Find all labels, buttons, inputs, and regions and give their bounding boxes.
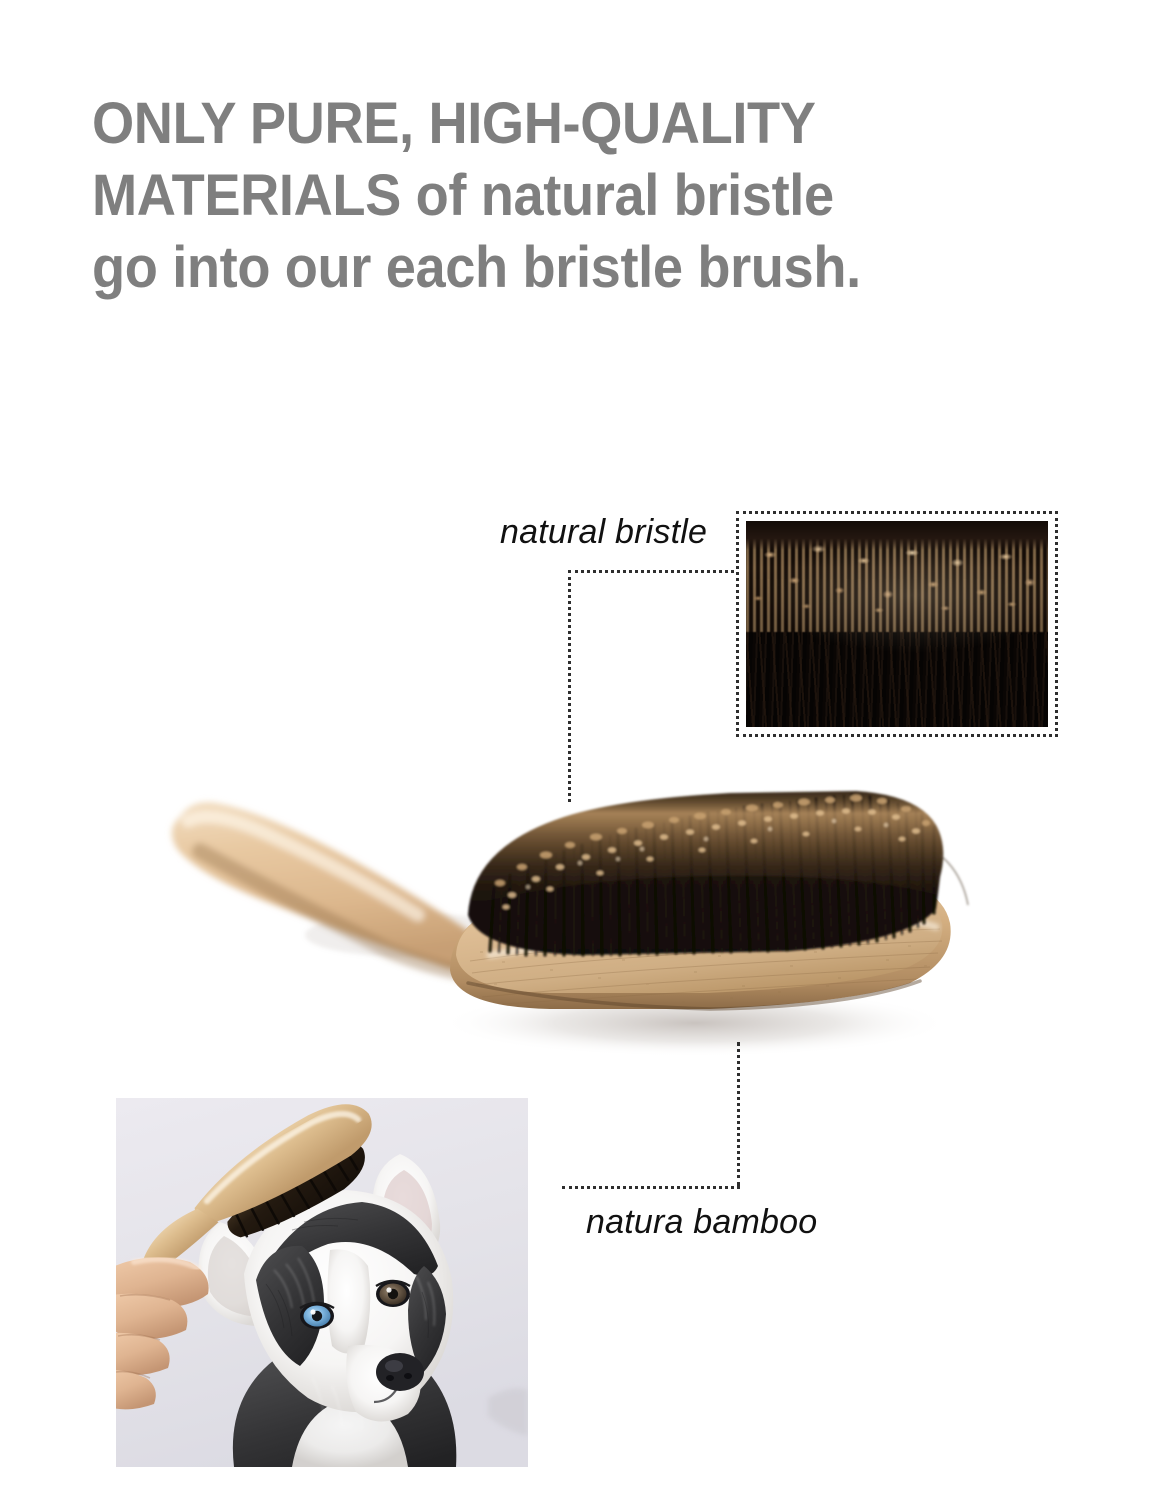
husky-nose bbox=[376, 1353, 424, 1391]
bristle-highlight bbox=[746, 521, 1048, 727]
callout-label-natura-bamboo: natura bamboo bbox=[586, 1202, 817, 1242]
husky-eye-right bbox=[376, 1281, 410, 1307]
husky-illustration bbox=[116, 1098, 528, 1467]
bristle-closeup-inset bbox=[736, 511, 1058, 737]
brush-product-photo bbox=[150, 755, 980, 1095]
headline-line-3: go into our each bristle brush. bbox=[92, 232, 1018, 304]
leader-line-bamboo-horizontal bbox=[562, 1186, 740, 1189]
brush-illustration bbox=[150, 755, 980, 1095]
husky-eye-left bbox=[300, 1303, 334, 1329]
dog-grooming-photo bbox=[116, 1098, 528, 1467]
headline-line-1: ONLY PURE, HIGH-QUALITY bbox=[92, 88, 1018, 160]
husky-blaze bbox=[327, 1249, 370, 1353]
headline-block: ONLY PURE, HIGH-QUALITY MATERIALS of nat… bbox=[92, 88, 1082, 304]
leader-line-bamboo-vertical bbox=[737, 1042, 740, 1186]
infographic-page: ONLY PURE, HIGH-QUALITY MATERIALS of nat… bbox=[0, 0, 1167, 1500]
bristle-closeup-photo bbox=[746, 521, 1048, 727]
callout-label-natural-bristle: natural bristle bbox=[500, 512, 707, 552]
leader-line-bristle-horizontal bbox=[568, 570, 740, 573]
brush-bristles bbox=[468, 791, 968, 955]
headline-line-2: MATERIALS of natural bristle bbox=[92, 160, 1018, 232]
